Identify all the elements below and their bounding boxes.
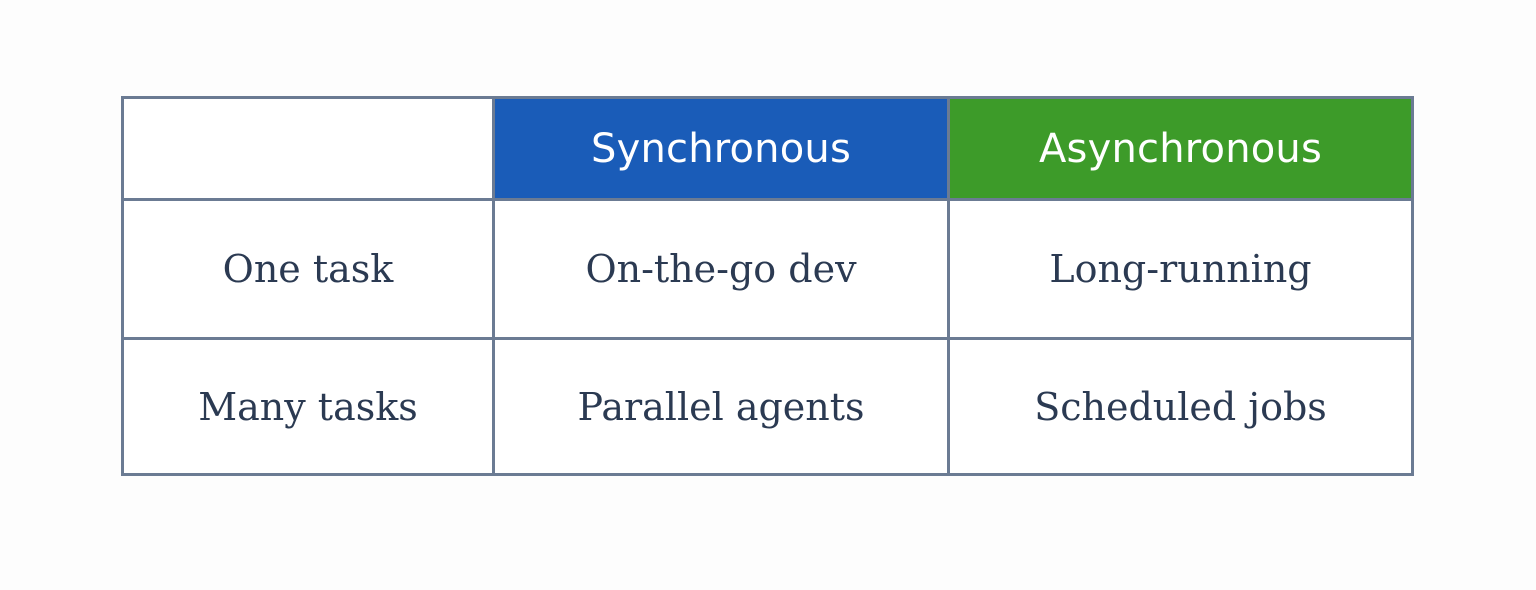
page-canvas: Synchronous Asynchronous One task On-the… bbox=[0, 0, 1536, 590]
cell-one-task-synchronous: On-the-go dev bbox=[492, 198, 947, 337]
row-header-one-task: One task bbox=[121, 198, 492, 337]
header-corner-cell bbox=[121, 96, 492, 198]
column-header-asynchronous: Asynchronous bbox=[947, 96, 1414, 198]
column-header-synchronous: Synchronous bbox=[492, 96, 947, 198]
comparison-table: Synchronous Asynchronous One task On-the… bbox=[121, 96, 1414, 476]
row-header-many-tasks: Many tasks bbox=[121, 337, 492, 476]
table-row: Many tasks Parallel agents Scheduled job… bbox=[121, 337, 1414, 476]
cell-many-tasks-asynchronous: Scheduled jobs bbox=[947, 337, 1414, 476]
cell-many-tasks-synchronous: Parallel agents bbox=[492, 337, 947, 476]
table-row: One task On-the-go dev Long-running bbox=[121, 198, 1414, 337]
table-header: Synchronous Asynchronous bbox=[121, 96, 1414, 198]
header-row: Synchronous Asynchronous bbox=[121, 96, 1414, 198]
cell-one-task-asynchronous: Long-running bbox=[947, 198, 1414, 337]
table-body: One task On-the-go dev Long-running Many… bbox=[121, 198, 1414, 476]
